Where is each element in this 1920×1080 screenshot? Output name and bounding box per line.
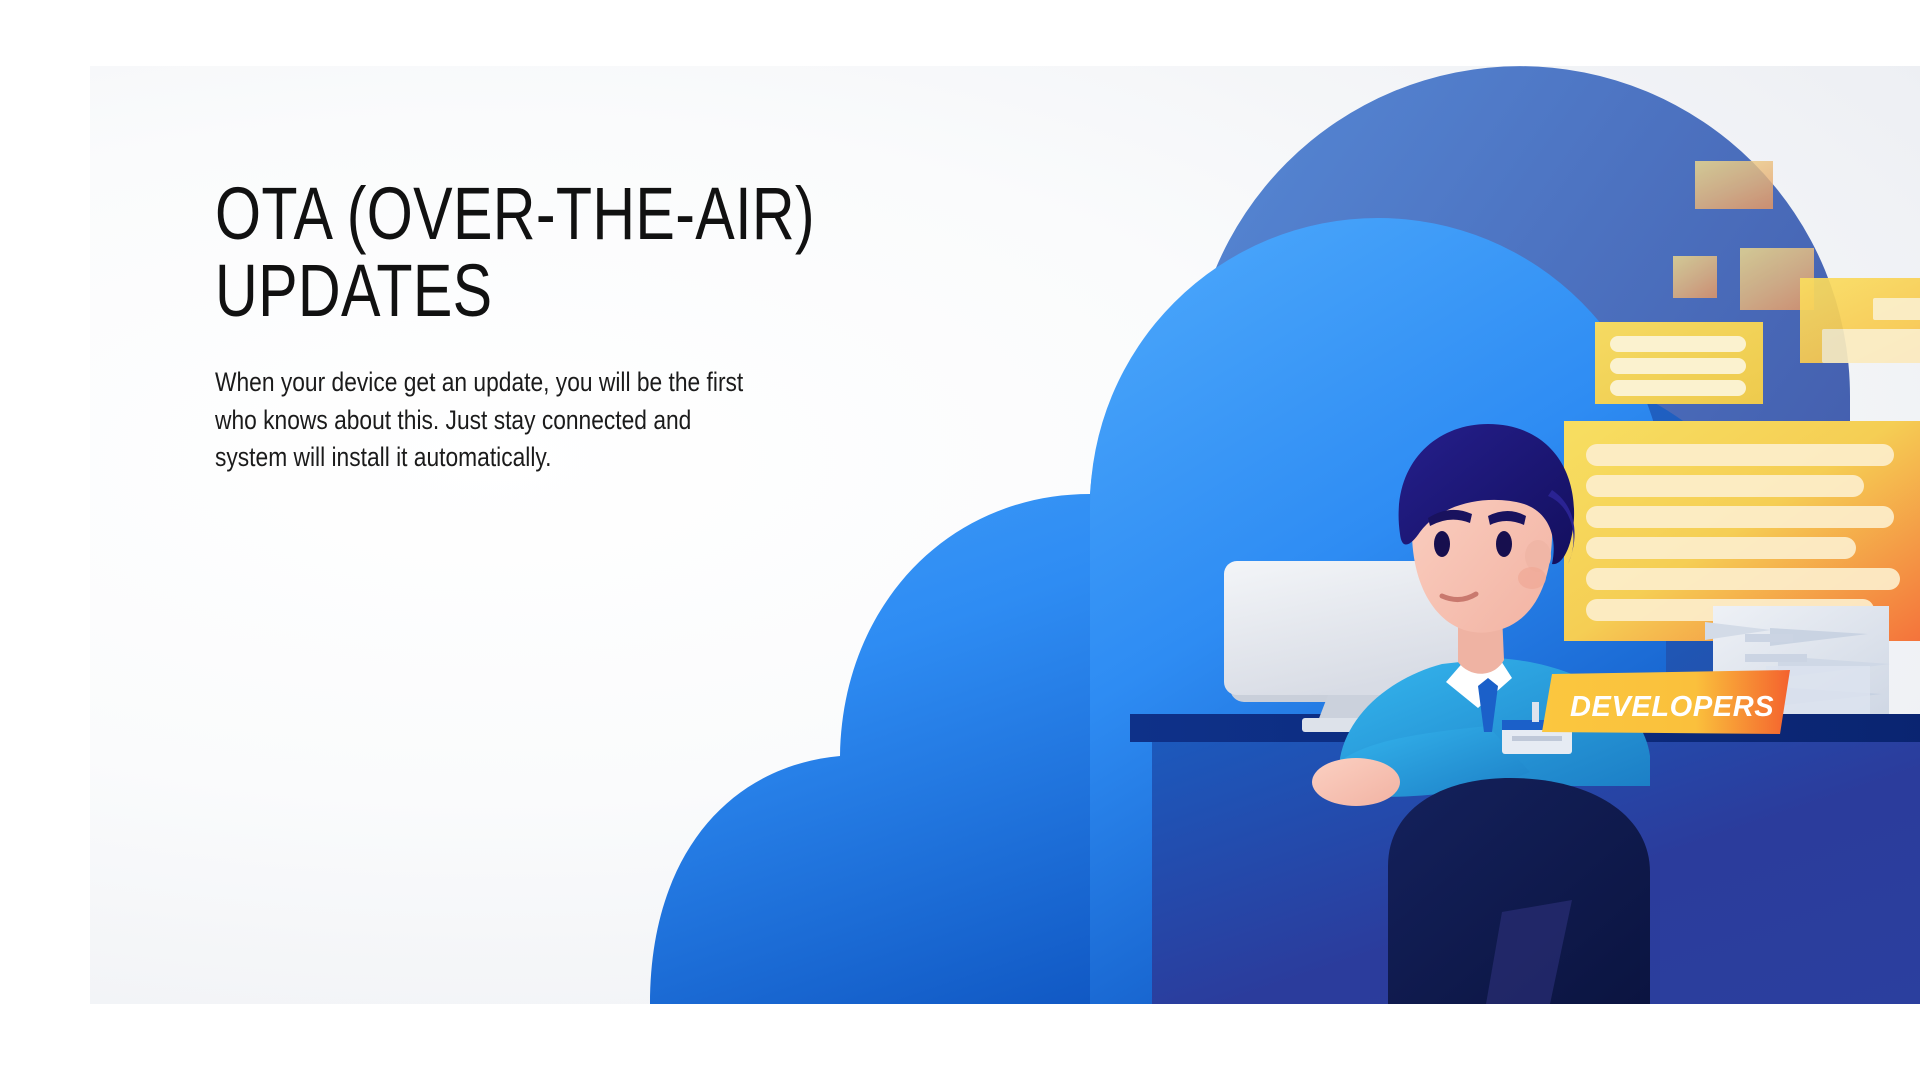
three-line-card <box>1595 322 1763 404</box>
text-block: OTA (OVER-THE-AIR) UPDATES When your dev… <box>215 176 935 477</box>
chip-large-top <box>1695 161 1773 209</box>
developers-badge-label: DEVELOPERS <box>1570 691 1774 723</box>
page-title: OTA (OVER-THE-AIR) UPDATES <box>215 176 935 330</box>
floating-card <box>1800 278 1920 363</box>
hand <box>1312 758 1400 806</box>
slide-root: DEVELOPERS OTA (OVER-THE-AIR) UPDATES Wh… <box>0 0 1920 1080</box>
content-panel: DEVELOPERS OTA (OVER-THE-AIR) UPDATES Wh… <box>90 66 1920 1004</box>
chip-small-left <box>1673 256 1717 298</box>
developers-badge: DEVELOPERS <box>1542 670 1790 734</box>
page-description: When your device get an update, you will… <box>215 364 748 477</box>
